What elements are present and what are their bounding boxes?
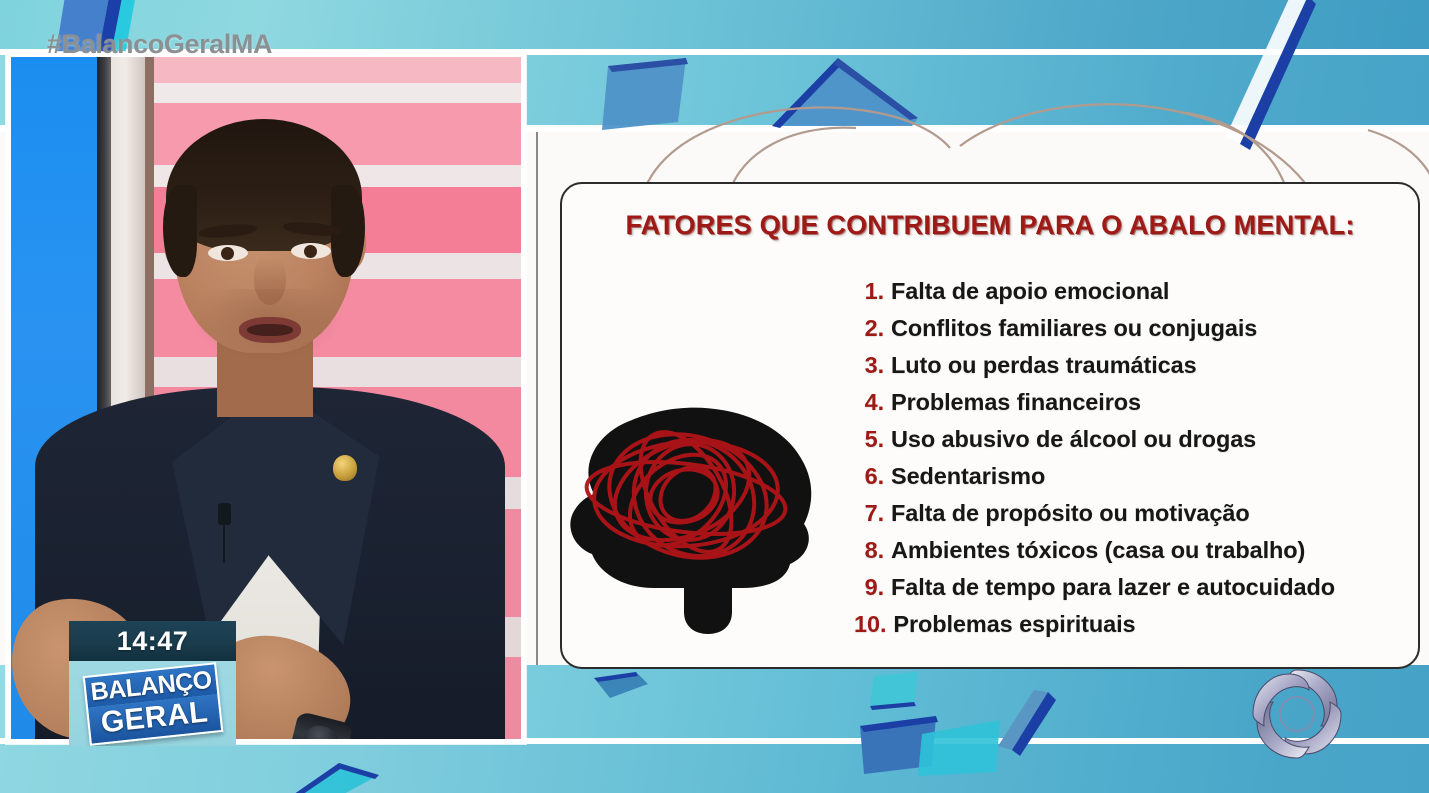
- decor-shape-blue-04: [770, 58, 920, 130]
- list-item: 3.Luto ou perdas traumáticas: [854, 352, 1414, 388]
- decor-shape-blue-09: [990, 690, 1070, 760]
- list-item: 6.Sedentarismo: [854, 463, 1414, 499]
- lapel-pin: [333, 455, 357, 481]
- list-item-text: Problemas espirituais: [893, 611, 1135, 638]
- eye-right: [291, 243, 331, 259]
- list-item: 4.Problemas financeiros: [854, 389, 1414, 425]
- list-item-number: 1.: [854, 278, 884, 305]
- list-item-text: Conflitos familiares ou conjugais: [891, 315, 1257, 342]
- factors-list: 1.Falta de apoio emocional 2.Conflitos f…: [854, 278, 1414, 648]
- eye-left: [208, 245, 248, 261]
- clock-time: 14:47: [117, 626, 189, 657]
- mouth-interior: [247, 324, 293, 336]
- list-item-text: Falta de tempo para lazer e autocuidado: [891, 574, 1335, 601]
- microphone-wire: [223, 523, 225, 563]
- lapel-microphone: [218, 503, 231, 525]
- background-band-bottom: [0, 744, 1429, 793]
- brain-illustration-icon: [536, 398, 836, 638]
- mouth: [239, 317, 301, 343]
- infographic-title: FATORES QUE CONTRIBUEM PARA O ABALO MENT…: [562, 210, 1418, 241]
- list-item-text: Uso abusivo de álcool ou drogas: [891, 426, 1256, 453]
- broadcast-screen: #BalancoGeralMA 14:47 BALANÇO GERAL AO V…: [0, 0, 1429, 793]
- broadcast-bug: 14:47 BALANÇO GERAL: [69, 621, 236, 746]
- watch-face: [301, 722, 341, 739]
- list-item-number: 8.: [854, 537, 884, 564]
- list-item-number: 4.: [854, 389, 884, 416]
- list-item-number: 9.: [854, 574, 884, 601]
- program-logo: BALANÇO GERAL: [69, 661, 236, 746]
- program-hashtag: #BalancoGeralMA: [47, 29, 272, 60]
- decor-shape-blue-07: [870, 672, 924, 708]
- infographic-body: 1.Falta de apoio emocional 2.Conflitos f…: [562, 262, 1418, 662]
- list-item: 8.Ambientes tóxicos (casa ou trabalho): [854, 537, 1414, 573]
- list-item-text: Sedentarismo: [891, 463, 1045, 490]
- list-item: 5.Uso abusivo de álcool ou drogas: [854, 426, 1414, 462]
- list-item: 2.Conflitos familiares ou conjugais: [854, 315, 1414, 351]
- hair-side-left: [163, 185, 197, 277]
- list-item-number: 5.: [854, 426, 884, 453]
- list-item-text: Ambientes tóxicos (casa ou trabalho): [891, 537, 1305, 564]
- list-item: 1.Falta de apoio emocional: [854, 278, 1414, 314]
- pupil-right: [304, 245, 317, 258]
- list-item: 10.Problemas espirituais: [854, 611, 1414, 647]
- list-item-number: 7.: [854, 500, 884, 527]
- record-tv-logo-icon: [1243, 660, 1351, 768]
- decor-shape-blue-06: [592, 672, 652, 700]
- list-item-text: Falta de apoio emocional: [891, 278, 1169, 305]
- list-item-text: Problemas financeiros: [891, 389, 1141, 416]
- decor-shape-blue-03: [600, 58, 710, 136]
- decor-shape-blue-02: [1216, 0, 1316, 152]
- list-item-number: 10.: [854, 611, 886, 638]
- decor-shape-blue-05: [283, 755, 383, 793]
- list-item: 9.Falta de tempo para lazer e autocuidad…: [854, 574, 1414, 610]
- list-item-number: 3.: [854, 352, 884, 379]
- infographic-card: FATORES QUE CONTRIBUEM PARA O ABALO MENT…: [560, 182, 1420, 669]
- list-item-text: Luto ou perdas traumáticas: [891, 352, 1197, 379]
- pupil-left: [221, 247, 234, 260]
- list-item-text: Falta de propósito ou motivação: [891, 500, 1250, 527]
- clock-bar: 14:47: [69, 621, 236, 661]
- list-item-number: 6.: [854, 463, 884, 490]
- program-logo-plate: BALANÇO GERAL: [82, 662, 223, 746]
- nose: [254, 257, 286, 305]
- list-item-number: 2.: [854, 315, 884, 342]
- list-item: 7.Falta de propósito ou motivação: [854, 500, 1414, 536]
